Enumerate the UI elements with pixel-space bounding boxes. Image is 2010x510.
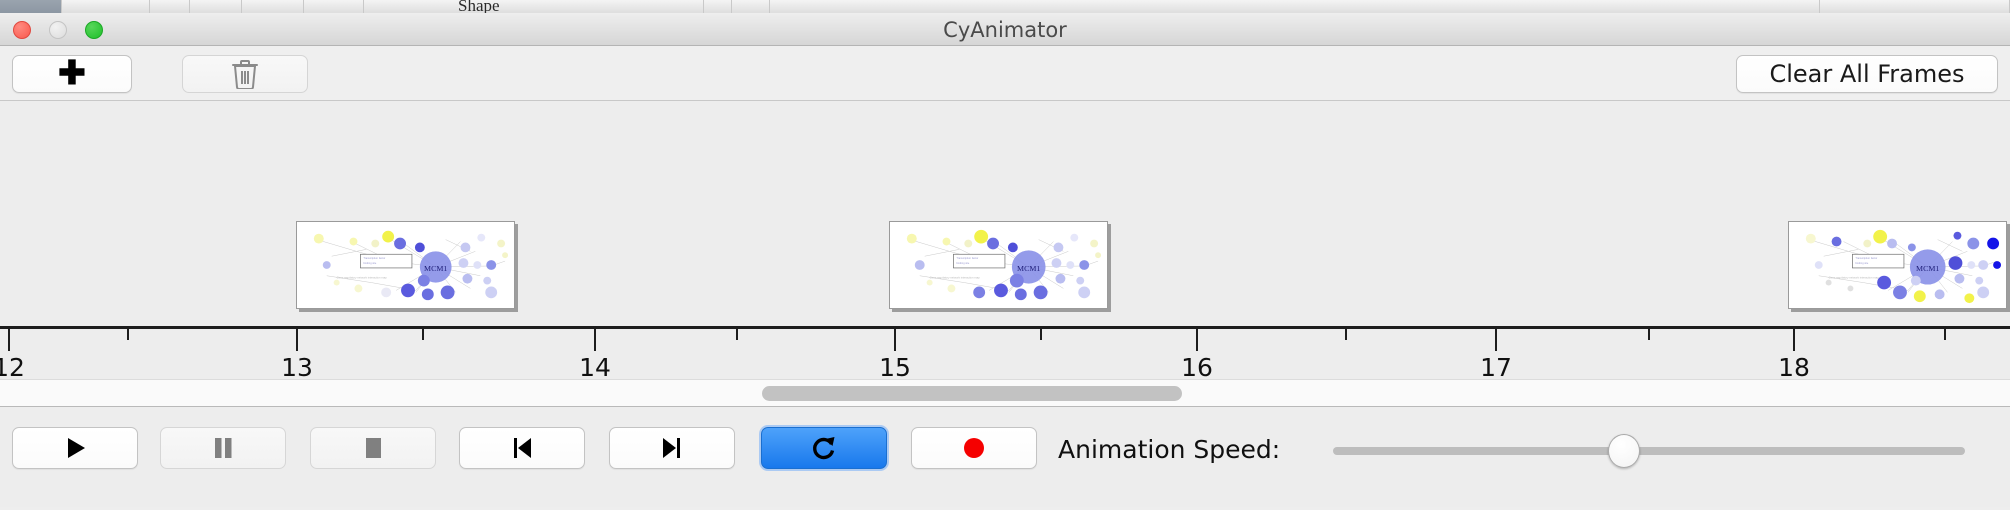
background-menu-label: Shape bbox=[458, 0, 500, 13]
background-tab bbox=[242, 0, 304, 13]
timeline-tick bbox=[422, 329, 424, 340]
network-graph-preview: MCM1 bbox=[297, 222, 514, 308]
background-tab bbox=[704, 0, 732, 13]
background-tab bbox=[190, 0, 242, 13]
add-frame-button[interactable]: ✚ bbox=[12, 55, 132, 93]
svg-text:binding site: binding site bbox=[363, 261, 377, 265]
record-icon bbox=[961, 435, 987, 461]
frame-thumbnail-1[interactable]: MCM1 bbox=[296, 221, 515, 309]
svg-text:Gene regulatory network intera: Gene regulatory network interaction map bbox=[337, 276, 387, 280]
svg-text:Gene regulatory network intera: Gene regulatory network interaction map bbox=[1829, 276, 1879, 280]
timeline-tick bbox=[1196, 329, 1198, 351]
timeline-tick-label: 12 bbox=[0, 353, 25, 379]
svg-text:Transcription factor: Transcription factor bbox=[1855, 256, 1877, 260]
skip-start-button[interactable] bbox=[459, 427, 585, 469]
svg-text:Transcription factor: Transcription factor bbox=[363, 256, 385, 260]
timeline-tick bbox=[1495, 329, 1497, 351]
timeline-scrollbar-thumb[interactable] bbox=[762, 386, 1182, 401]
animation-speed-label: Animation Speed: bbox=[1058, 435, 1280, 464]
skip-forward-icon bbox=[659, 434, 685, 462]
frame-toolbar: ✚ Clear All Frames bbox=[0, 46, 2010, 101]
background-tab bbox=[364, 0, 704, 13]
svg-text:MCM1: MCM1 bbox=[1916, 264, 1939, 273]
timeline-tick bbox=[1040, 329, 1042, 340]
timeline-tick bbox=[127, 329, 129, 340]
timeline-panel[interactable]: MCM1 bbox=[0, 101, 2010, 379]
svg-text:binding site: binding site bbox=[1855, 261, 1869, 265]
background-tab bbox=[304, 0, 364, 13]
frame-thumbnail-2[interactable]: MCM1 bbox=[889, 221, 1108, 309]
svg-text:MCM1: MCM1 bbox=[424, 264, 447, 273]
svg-text:binding site: binding site bbox=[956, 261, 970, 265]
frame-thumbnail-3[interactable]: MCM1 bbox=[1788, 221, 2007, 309]
play-icon bbox=[61, 434, 89, 462]
trash-icon bbox=[232, 59, 258, 89]
loop-icon bbox=[809, 433, 839, 463]
stop-button[interactable] bbox=[310, 427, 436, 469]
timeline-tick bbox=[1648, 329, 1650, 340]
timeline-axis-line bbox=[0, 326, 2010, 329]
window-titlebar[interactable]: CyAnimator bbox=[0, 13, 2010, 46]
timeline-tick bbox=[296, 329, 298, 351]
background-tab bbox=[1820, 0, 2010, 13]
skip-back-icon bbox=[509, 434, 535, 462]
window-title: CyAnimator bbox=[0, 18, 2010, 42]
timeline-tick-label: 14 bbox=[579, 353, 611, 379]
clear-all-frames-button[interactable]: Clear All Frames bbox=[1736, 55, 1998, 93]
stop-icon bbox=[360, 434, 386, 462]
svg-text:Gene regulatory network intera: Gene regulatory network interaction map bbox=[930, 276, 980, 280]
background-tab bbox=[732, 0, 770, 13]
pause-icon bbox=[210, 434, 236, 462]
cyanimator-window: CyAnimator ✚ Clear All Frames bbox=[0, 13, 2010, 510]
background-tab bbox=[62, 0, 150, 13]
timeline-tick-label: 17 bbox=[1480, 353, 1512, 379]
timeline-tick bbox=[1944, 329, 1946, 340]
background-tab bbox=[0, 0, 62, 13]
timeline-tick bbox=[8, 329, 10, 351]
timeline-tick bbox=[1793, 329, 1795, 351]
network-graph-preview: MCM1 bbox=[1789, 222, 2006, 308]
animation-speed-slider[interactable] bbox=[1333, 447, 1965, 455]
timeline-tick-label: 13 bbox=[281, 353, 313, 379]
plus-icon: ✚ bbox=[58, 56, 86, 89]
playback-toolbar: Animation Speed: bbox=[0, 407, 2010, 507]
timeline-tick-label: 18 bbox=[1778, 353, 1810, 379]
timeline-scrollbar[interactable] bbox=[0, 379, 2010, 407]
play-button[interactable] bbox=[12, 427, 138, 469]
loop-button[interactable] bbox=[761, 427, 887, 469]
timeline-tick bbox=[736, 329, 738, 340]
delete-frame-button[interactable] bbox=[182, 55, 308, 93]
animation-speed-slider-thumb[interactable] bbox=[1608, 434, 1640, 468]
timeline-tick bbox=[594, 329, 596, 351]
background-app-strip: Shape bbox=[0, 0, 2010, 13]
svg-text:Transcription factor: Transcription factor bbox=[956, 256, 978, 260]
skip-end-button[interactable] bbox=[609, 427, 735, 469]
timeline-tick bbox=[894, 329, 896, 351]
background-tab bbox=[150, 0, 190, 13]
pause-button[interactable] bbox=[160, 427, 286, 469]
timeline-tick-label: 16 bbox=[1181, 353, 1213, 379]
network-graph-preview: MCM1 bbox=[890, 222, 1107, 308]
svg-text:MCM1: MCM1 bbox=[1017, 264, 1040, 273]
timeline-tick-label: 15 bbox=[879, 353, 911, 379]
record-button[interactable] bbox=[911, 427, 1037, 469]
background-tab bbox=[770, 0, 1820, 13]
timeline-tick bbox=[1345, 329, 1347, 340]
